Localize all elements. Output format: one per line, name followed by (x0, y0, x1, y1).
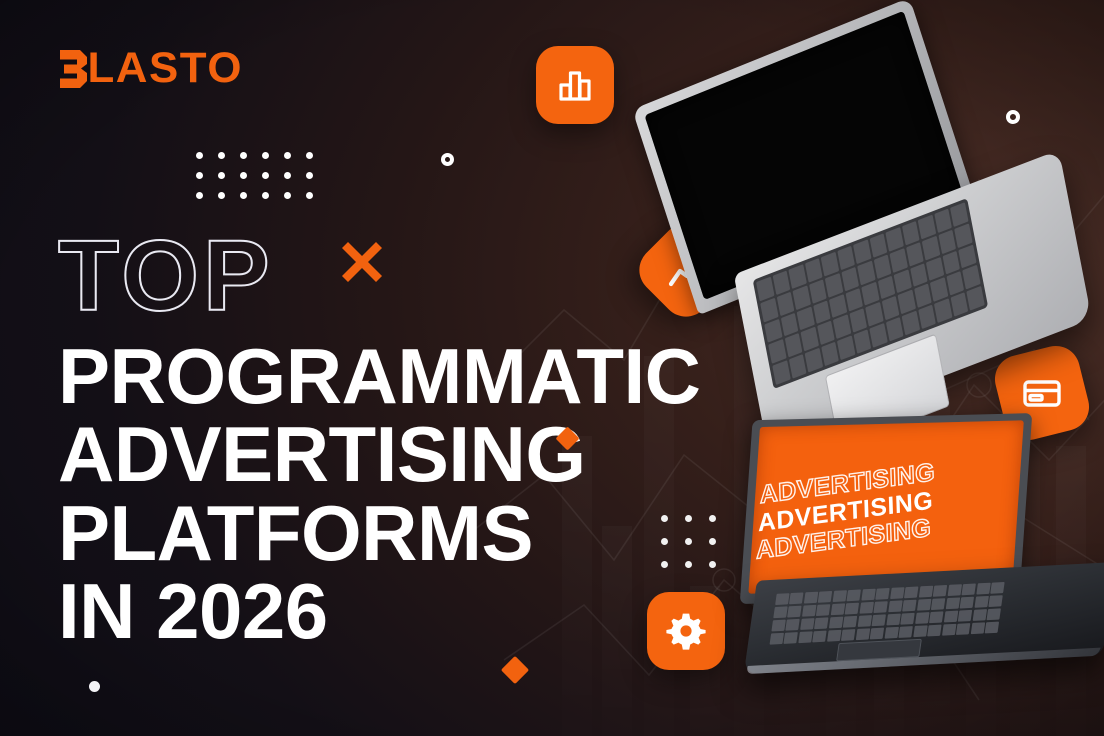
keyboard-key (841, 267, 859, 291)
promo-banner: LASTO TOP PROGRAMMATIC ADVERTISING PLATF… (0, 0, 1104, 736)
keyboard-key (927, 624, 941, 636)
keyboard-key (886, 227, 904, 251)
keyboard-key (793, 285, 811, 309)
keyboard-key (918, 586, 932, 598)
keyboard-key (845, 603, 859, 615)
keyboard-key (962, 583, 976, 595)
keyboard-key (882, 296, 900, 320)
keyboard-key (902, 600, 916, 612)
logo-wordmark: LASTO (87, 47, 242, 90)
keyboard-key (902, 221, 920, 245)
keyboard-key (764, 319, 782, 343)
keyboard-key (884, 626, 898, 638)
keyboard-key (831, 603, 845, 615)
keyboard-key (772, 271, 790, 295)
keyboard-key (918, 215, 936, 239)
keyboard-key (775, 593, 789, 605)
keyboard-key (878, 275, 896, 299)
keyboard-key (800, 618, 814, 630)
keyboard-key (805, 258, 823, 282)
keyboard-key (890, 248, 908, 272)
keyboard-key (890, 587, 904, 599)
keyboard-key (788, 264, 806, 288)
keyboard-key (859, 602, 873, 614)
keyboard-key (974, 596, 988, 608)
grid-dot (218, 172, 225, 179)
keyboard-key (972, 609, 986, 621)
keyboard-key (821, 252, 839, 276)
keyboard-key (813, 630, 827, 642)
dot-grid-large (196, 152, 328, 212)
bar-chart-icon (555, 65, 595, 105)
keyboard-key (856, 628, 870, 640)
keyboard-key (951, 292, 969, 316)
grid-dot (709, 515, 716, 522)
keyboard-key (832, 590, 846, 602)
keyboard-key (987, 608, 1001, 620)
keyboard-key (956, 623, 970, 635)
keyboard-key (931, 598, 945, 610)
keyboard-key (917, 599, 931, 611)
keyboard-key (825, 273, 843, 297)
keyboard-key (853, 239, 871, 263)
keyboard-key (904, 586, 918, 598)
keyboard-key (816, 604, 830, 616)
headline-line-programmatic: PROGRAMMATIC (58, 338, 818, 414)
keyboard-key (875, 588, 889, 600)
keyboard-key (798, 631, 812, 643)
gaming-laptop-front-lip (745, 648, 1101, 675)
ring-icon-left (441, 153, 454, 166)
keyboard-key (988, 595, 1002, 607)
grid-dot (240, 192, 247, 199)
keyboard-key (772, 361, 790, 385)
keyboard-key (804, 592, 818, 604)
keyboard-key (946, 271, 964, 295)
keyboard-key (814, 617, 828, 629)
grid-dot (262, 152, 269, 159)
keyboard-key (886, 317, 904, 341)
keyboard-key (869, 233, 887, 257)
grid-dot (306, 192, 313, 199)
keyboard-key (789, 592, 803, 604)
keyboard-key (967, 286, 985, 310)
keyboard-key (874, 254, 892, 278)
grid-dot (661, 538, 668, 545)
grid-dot (685, 561, 692, 568)
grid-dot (709, 538, 716, 545)
keyboard-key (945, 597, 959, 609)
grid-dot (218, 192, 225, 199)
grid-dot (306, 152, 313, 159)
laptop-gaming: ADVERTISING ADVERTISING ADVERTISING (732, 398, 1104, 729)
grid-dot (218, 152, 225, 159)
badge-bar-chart[interactable] (536, 46, 614, 124)
grid-dot (196, 172, 203, 179)
keyboard-key (861, 589, 875, 601)
keyboard-key (915, 612, 929, 624)
keyboard-key (788, 606, 802, 618)
keyboard-key (976, 583, 990, 595)
keyboard-key (784, 333, 802, 357)
keyboard-key (770, 632, 784, 644)
grid-dot (196, 192, 203, 199)
grid-dot (306, 172, 313, 179)
keyboard-key (958, 610, 972, 622)
keyboard-key (802, 605, 816, 617)
keyboard-key (870, 627, 884, 639)
keyboard-key (786, 619, 800, 631)
dot-grid-small (661, 515, 733, 584)
grid-dot (262, 172, 269, 179)
keyboard-key (829, 616, 843, 628)
keyboard-key (853, 329, 871, 353)
keyboard-key (837, 246, 855, 270)
keyboard-key (906, 242, 924, 266)
headline-line-advertising: ADVERTISING (58, 416, 818, 492)
grid-dot (196, 152, 203, 159)
keyboard-key (821, 342, 839, 366)
keyboard-key (899, 626, 913, 638)
gear-icon (665, 610, 707, 652)
keyboard-key (922, 236, 940, 260)
keyboard-key (847, 589, 861, 601)
keyboard-key (809, 279, 827, 303)
keyboard-key (955, 223, 973, 247)
gaming-laptop-base (744, 562, 1104, 674)
keyboard-key (900, 613, 914, 625)
keyboard-key (756, 277, 774, 301)
grid-dot (262, 192, 269, 199)
keyboard-key (970, 622, 984, 634)
keyboard-key (760, 298, 778, 322)
logo-b-mark-icon (58, 48, 88, 90)
keyboard-key (771, 619, 785, 631)
keyboard-key (805, 348, 823, 372)
keyboard-key (784, 632, 798, 644)
keyboard-key (990, 582, 1004, 594)
grid-dot (661, 515, 668, 522)
keyboard-key (872, 614, 886, 626)
grid-dot (284, 192, 291, 199)
keyboard-key (843, 616, 857, 628)
x-mark-icon (338, 238, 386, 286)
keyboard-key (934, 208, 952, 232)
keyboard-key (857, 615, 871, 627)
keyboard-key (942, 250, 960, 274)
dot-accent-bottom-left (89, 681, 100, 692)
keyboard-key (841, 629, 855, 641)
keyboard-key (985, 621, 999, 633)
grid-dot (709, 561, 716, 568)
keyboard-key (857, 260, 875, 284)
grid-dot (240, 172, 247, 179)
keyboard-key (960, 597, 974, 609)
keyboard-key (943, 610, 957, 622)
keyboard-key (950, 202, 968, 226)
keyboard-key (902, 311, 920, 335)
grid-dot (685, 538, 692, 545)
keyboard-key (947, 584, 961, 596)
keyboard-key (827, 629, 841, 641)
keyboard-key (913, 625, 927, 637)
keyboard-key (776, 291, 794, 315)
keyboard-key (938, 229, 956, 253)
gaming-laptop-keyboard (770, 582, 1005, 645)
keyboard-key (773, 606, 787, 618)
keyboard-key (942, 623, 956, 635)
keyboard-key (933, 585, 947, 597)
gaming-laptop-screen: ADVERTISING ADVERTISING ADVERTISING (748, 420, 1023, 593)
brand-logo[interactable]: LASTO (58, 47, 241, 90)
keyboard-key (929, 611, 943, 623)
keyboard-key (870, 323, 888, 347)
keyboard-key (918, 305, 936, 329)
keyboard-key (874, 601, 888, 613)
grid-dot (661, 561, 668, 568)
grid-dot (240, 152, 247, 159)
grid-dot (284, 172, 291, 179)
keyboard-key (934, 298, 952, 322)
grid-dot (685, 515, 692, 522)
badge-gear[interactable] (647, 592, 725, 670)
keyboard-key (837, 336, 855, 360)
grid-dot (284, 152, 291, 159)
keyboard-key (886, 613, 900, 625)
keyboard-key (818, 591, 832, 603)
keyboard-key (789, 354, 807, 378)
keyboard-key (888, 600, 902, 612)
